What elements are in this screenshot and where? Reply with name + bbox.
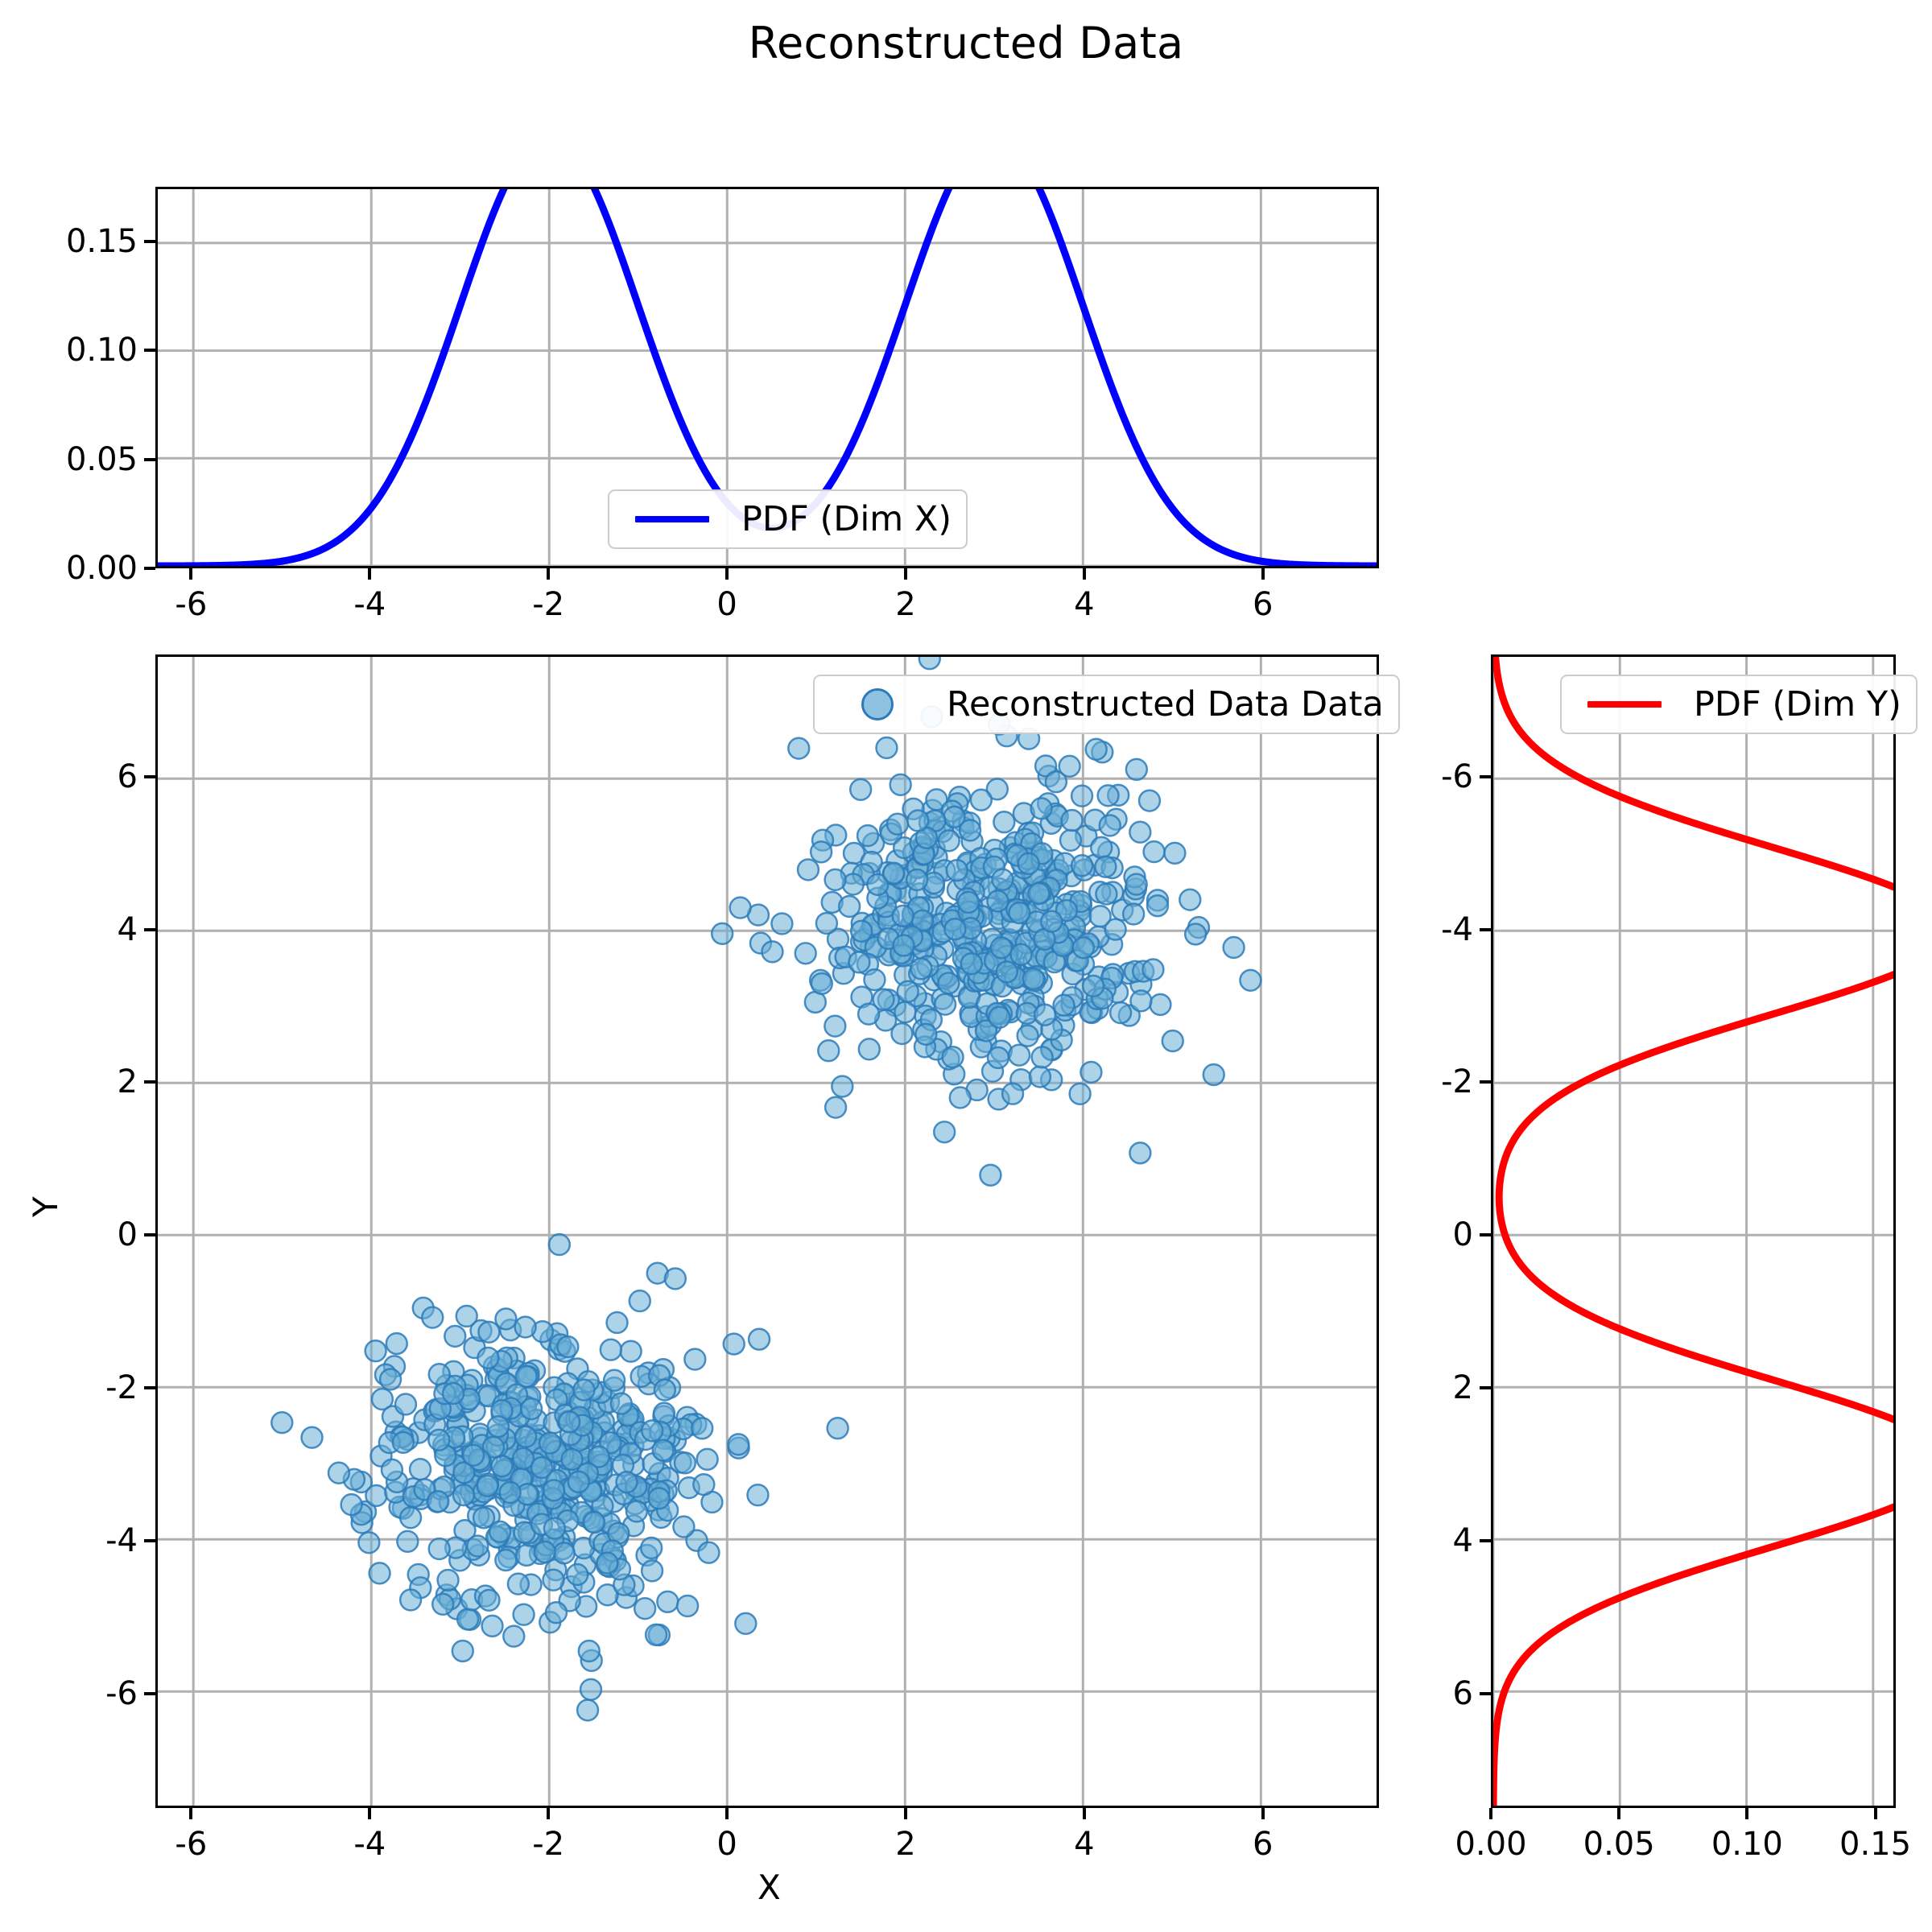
axis-tick-label: 2 (1370, 1369, 1473, 1406)
axis-tick-mark (144, 1692, 155, 1695)
axis-tick-label: 0.10 (1711, 1826, 1783, 1863)
axis-tick-label: 0.05 (1583, 1826, 1655, 1863)
axis-tick-mark (1745, 1808, 1748, 1819)
axis-tick-label: 4 (1370, 1522, 1473, 1559)
axis-tick-label: 0 (35, 1216, 138, 1253)
y-axis-label: Y (26, 1196, 65, 1217)
axis-tick-label: 6 (1370, 1675, 1473, 1712)
axis-tick-label: 0 (1370, 1216, 1473, 1253)
axis-tick-label: 2 (35, 1063, 138, 1100)
axis-tick-mark (1874, 1808, 1877, 1819)
axis-tick-mark (1480, 1386, 1491, 1389)
x-axis-label: X (758, 1868, 781, 1907)
axis-tick-mark (189, 1808, 192, 1819)
axis-tick-label: 0 (716, 1826, 737, 1863)
axis-tick-mark (1480, 1080, 1491, 1084)
axis-tick-label: -2 (532, 1826, 564, 1863)
axis-tick-mark (1480, 775, 1491, 778)
scatter-points (271, 657, 1261, 1720)
legend-label-pdf-dim-x: PDF (Dim X) (741, 499, 952, 539)
legend-marker-swatch-circle (829, 688, 926, 720)
legend-pdf-dim-x[interactable]: PDF (Dim X) (608, 489, 968, 549)
scatter-panel (155, 654, 1379, 1808)
axis-tick-mark (144, 458, 155, 461)
axis-tick-label: 6 (35, 758, 138, 795)
axis-tick-mark (144, 928, 155, 931)
axis-tick-mark (1261, 1808, 1265, 1819)
axis-tick-mark (1480, 1539, 1491, 1542)
axis-tick-label: -2 (35, 1369, 138, 1406)
axis-tick-mark (1083, 1808, 1086, 1819)
axis-tick-mark (144, 240, 155, 243)
axis-tick-mark (1083, 568, 1086, 580)
axis-tick-label: 0 (716, 586, 737, 623)
axis-tick-mark (144, 1080, 155, 1084)
axis-tick-mark (725, 568, 729, 580)
axis-tick-label: -2 (1370, 1063, 1473, 1100)
legend-line-swatch-red (1576, 701, 1673, 708)
axis-tick-label: 4 (35, 911, 138, 948)
axis-tick-label: 2 (895, 586, 915, 623)
axis-tick-label: -6 (1370, 758, 1473, 795)
axis-tick-mark (1261, 568, 1265, 580)
legend-label-reconstructed-data: Reconstructed Data Data (947, 684, 1384, 724)
right-marginal-panel (1491, 654, 1896, 1808)
axis-tick-label: 0.10 (27, 332, 138, 369)
axis-tick-label: 2 (895, 1826, 915, 1863)
axis-tick-mark (1489, 1808, 1492, 1819)
axis-tick-label: 0.15 (27, 223, 138, 260)
axis-tick-mark (144, 775, 155, 778)
axis-tick-label: 6 (1253, 586, 1273, 623)
scatter-plot-area (158, 657, 1377, 1806)
axis-tick-mark (144, 1233, 155, 1236)
pdf-dim-y-curve (1493, 657, 1893, 1806)
legend-reconstructed-data[interactable]: Reconstructed Data Data (813, 675, 1400, 734)
axis-tick-label: 4 (1074, 1826, 1094, 1863)
axis-tick-label: 0.00 (1455, 1826, 1526, 1863)
axis-tick-label: -4 (35, 1522, 138, 1559)
axis-tick-mark (368, 568, 371, 580)
axis-tick-mark (1480, 928, 1491, 931)
axis-tick-label: 4 (1074, 586, 1094, 623)
axis-tick-mark (904, 1808, 907, 1819)
axis-tick-mark (144, 349, 155, 352)
axis-tick-label: 0.05 (27, 441, 138, 478)
axis-tick-label: 6 (1253, 1826, 1273, 1863)
axis-tick-label: -4 (1370, 911, 1473, 948)
figure-title: Reconstructed Data (0, 18, 1932, 68)
axis-tick-label: -4 (353, 586, 386, 623)
axis-tick-mark (547, 568, 550, 580)
pdf-dim-y-plot-area (1493, 657, 1893, 1806)
axis-tick-label: -6 (175, 586, 207, 623)
axis-tick-mark (1480, 1233, 1491, 1236)
axis-tick-mark (368, 1808, 371, 1819)
axis-tick-mark (144, 1539, 155, 1542)
legend-label-pdf-dim-y: PDF (Dim Y) (1694, 684, 1901, 724)
axis-tick-mark (144, 1386, 155, 1389)
axis-tick-mark (144, 567, 155, 570)
axis-tick-label: 0.00 (27, 550, 138, 587)
axis-tick-label: -4 (353, 1826, 386, 1863)
axis-tick-label: 0.15 (1839, 1826, 1911, 1863)
axis-tick-label: -2 (532, 586, 564, 623)
axis-tick-mark (725, 1808, 729, 1819)
legend-pdf-dim-y[interactable]: PDF (Dim Y) (1560, 675, 1918, 734)
figure-canvas: Reconstructed Data -6-4-202460.000.050.1… (0, 0, 1932, 1932)
axis-tick-label: -6 (35, 1675, 138, 1712)
axis-tick-mark (1480, 1692, 1491, 1695)
axis-tick-mark (1617, 1808, 1620, 1819)
axis-tick-mark (189, 568, 192, 580)
axis-tick-mark (547, 1808, 550, 1819)
axis-tick-mark (904, 568, 907, 580)
axis-tick-label: -6 (175, 1826, 207, 1863)
legend-line-swatch-blue (624, 516, 720, 522)
